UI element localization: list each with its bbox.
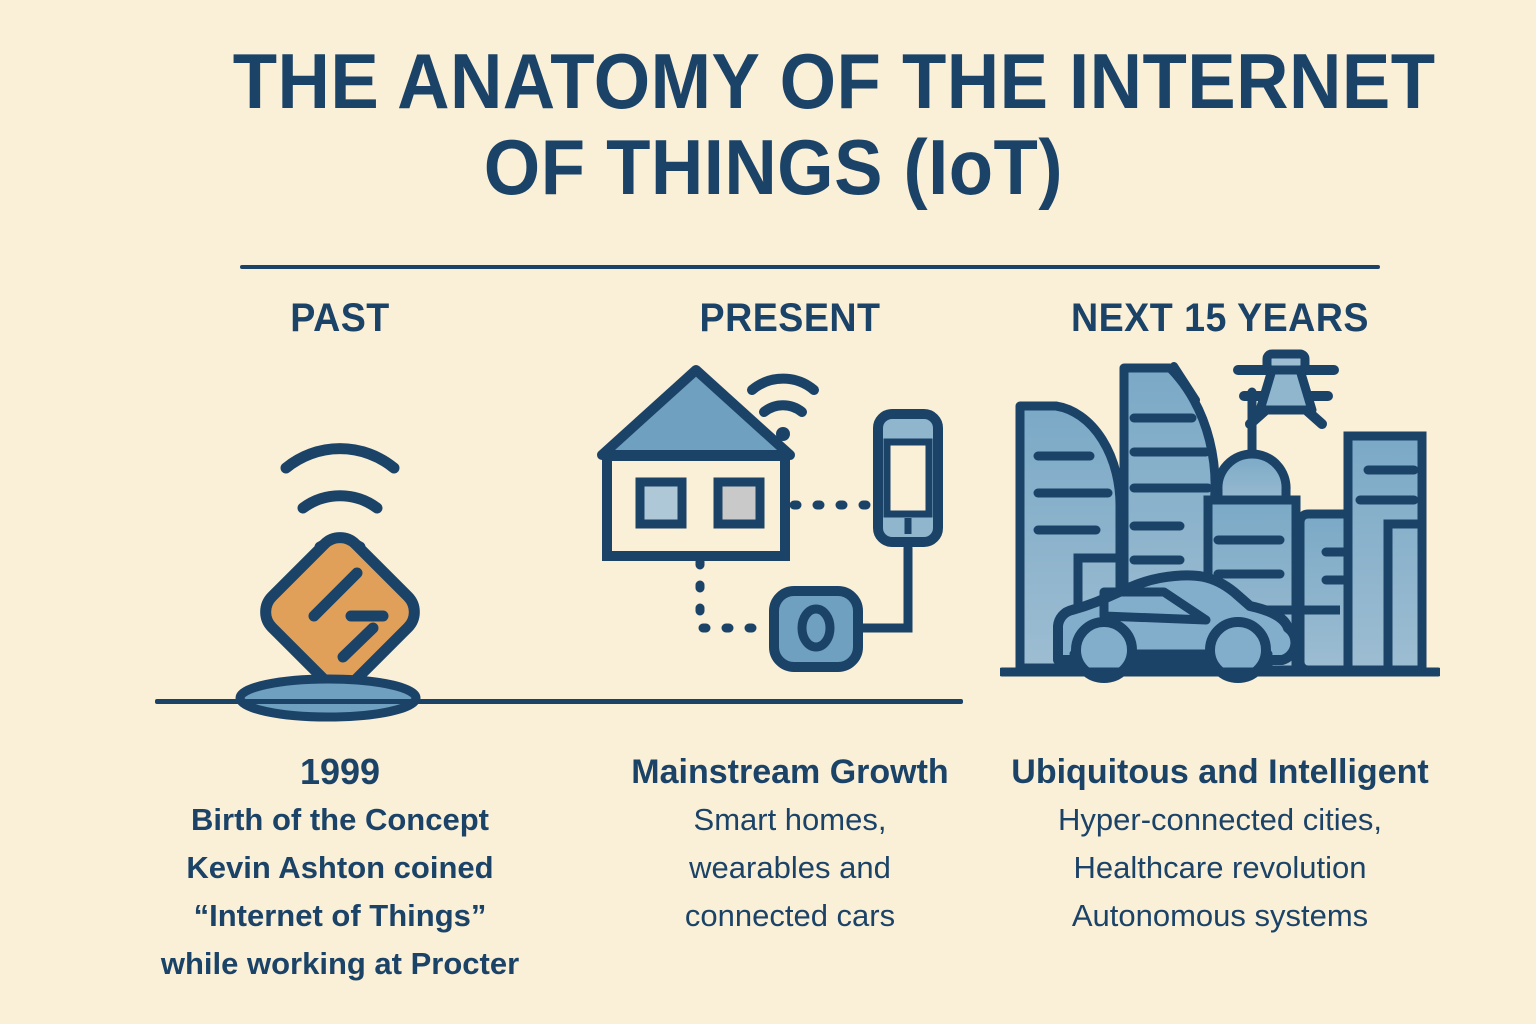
page-title-line-1: THE ANATOMY OF THE INTERNET: [233, 38, 1368, 124]
page-title-line-2: OF THINGS (IoT): [233, 124, 1368, 210]
column-header-present: PRESENT: [602, 296, 978, 348]
caption-present-headline: Mainstream Growth: [590, 748, 990, 796]
caption-present-line-3: connected cars: [590, 892, 990, 940]
rfid-tag-wifi-icon: [140, 348, 540, 688]
caption-past: 1999 Birth of the Concept Kevin Ashton c…: [140, 748, 540, 988]
caption-future-headline: Ubiquitous and Intelligent: [1000, 748, 1440, 796]
column-past: PAST: [140, 296, 540, 708]
icon-divider-line: [155, 699, 963, 704]
caption-present-line-2: wearables and: [590, 844, 990, 892]
icon-area-future: [1000, 348, 1440, 708]
icon-area-present: [590, 348, 990, 708]
smart-home-network-icon: [590, 348, 990, 688]
page-title: THE ANATOMY OF THE INTERNET OF THINGS (I…: [190, 38, 1410, 210]
smartphone-icon: [878, 414, 938, 542]
caption-future-line-1: Hyper-connected cities,: [1000, 796, 1440, 844]
phone-hub-wire: [858, 548, 908, 628]
column-header-past: PAST: [152, 296, 528, 348]
caption-past-subhead: Birth of the Concept: [140, 796, 540, 844]
caption-past-line-2: “Internet of Things”: [140, 892, 540, 940]
smart-hub-icon: [774, 591, 858, 667]
column-future: NEXT 15 YEARS: [1000, 296, 1440, 708]
house-window-left-icon: [640, 482, 682, 524]
building-right-icon: [1348, 436, 1424, 670]
tag-shadow-ellipse-icon: [140, 668, 540, 728]
icon-area-past: [140, 348, 540, 708]
title-divider: [240, 265, 1380, 269]
smart-city-car-drone-icon: [1000, 348, 1440, 708]
caption-past-line-3: while working at Procter: [140, 940, 540, 988]
column-present: PRESENT: [590, 296, 990, 708]
dashed-link-house-hub: [700, 562, 772, 628]
caption-future: Ubiquitous and Intelligent Hyper-connect…: [1000, 748, 1440, 940]
caption-future-line-2: Healthcare revolution: [1000, 844, 1440, 892]
caption-past-headline: 1999: [140, 748, 540, 796]
wifi-icon: [752, 379, 814, 412]
house-window-right-icon: [718, 482, 760, 524]
caption-present: Mainstream Growth Smart homes, wearables…: [590, 748, 990, 940]
column-header-future: NEXT 15 YEARS: [1013, 296, 1427, 348]
caption-past-line-1: Kevin Ashton coined: [140, 844, 540, 892]
caption-future-line-3: Autonomous systems: [1000, 892, 1440, 940]
caption-present-line-1: Smart homes,: [590, 796, 990, 844]
